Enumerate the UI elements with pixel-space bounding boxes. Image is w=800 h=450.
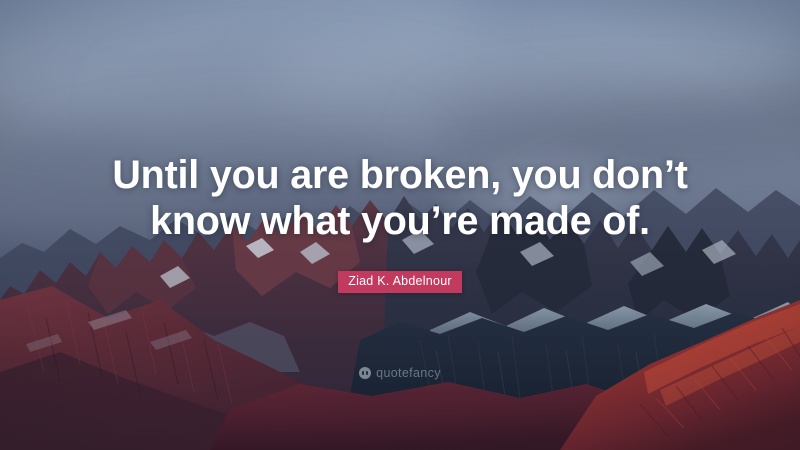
quotefancy-watermark: quotefancy: [0, 366, 800, 384]
author-name-badge: Ziad K. Abdelnour: [338, 271, 462, 293]
quote-wallpaper-image: Until you are broken, you don’t know wha…: [0, 0, 800, 450]
quote-line-2: know what you’re made of.: [0, 198, 800, 244]
quote-line-1: Until you are broken, you don’t: [0, 152, 800, 198]
watermark-brand-text: quotefancy: [376, 367, 441, 380]
quote-marks-circle-icon: [359, 367, 371, 379]
author-attribution-row: Ziad K. Abdelnour: [0, 271, 800, 293]
quote-text-block: Until you are broken, you don’t know wha…: [0, 152, 800, 244]
